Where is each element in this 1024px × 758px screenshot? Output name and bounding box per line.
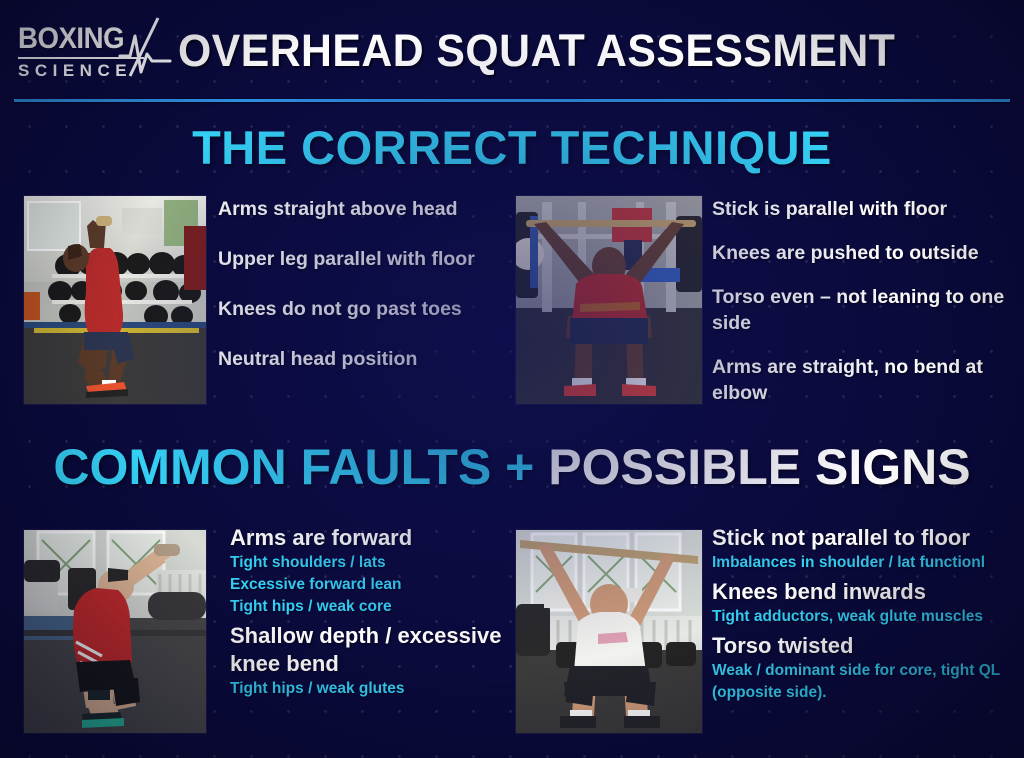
- fault-sign: Tight hips / weak glutes: [230, 678, 510, 700]
- fault-sign: Tight hips / weak core: [230, 596, 510, 618]
- cue-item: Neutral head position: [218, 346, 503, 372]
- heading-faults-part1: COMMON FAULTS +: [53, 439, 534, 495]
- correct-technique-right-cues: Stick is parallel with floor Knees are p…: [712, 196, 1024, 424]
- photo-correct-front-view: [516, 196, 702, 404]
- fault-block: Stick not parallel to floor Imbalances i…: [712, 524, 1024, 574]
- photo-correct-side-view: [24, 196, 206, 404]
- cue-item: Torso even – not leaning to one side: [712, 284, 1024, 336]
- cue-item: Upper leg parallel with floor: [218, 246, 503, 272]
- poster-header: BOXING SCIENCE OVERHEAD SQUAT ASSESSMENT: [0, 0, 1024, 100]
- fault-sign: Imbalances in shoulder / lat functionl: [712, 552, 1024, 574]
- correct-technique-left-cues: Arms straight above head Upper leg paral…: [218, 196, 503, 396]
- fault-sign: Tight adductors, weak glute muscles: [712, 606, 1024, 628]
- photo-fault-front-view: [516, 530, 702, 733]
- section-heading-common-faults: COMMON FAULTS + POSSIBLE SIGNS: [0, 436, 1024, 498]
- cue-item: Knees do not go past toes: [218, 296, 503, 322]
- cue-item: Knees are pushed to outside: [712, 240, 1024, 266]
- page-title: OVERHEAD SQUAT ASSESSMENT: [178, 19, 967, 83]
- cue-item: Arms straight above head: [218, 196, 503, 222]
- fault-title: Shallow depth / excessive knee bend: [230, 622, 510, 678]
- fault-block: Torso twisted Weak / dominant side for c…: [712, 632, 1024, 704]
- faults-right-column: Stick not parallel to floor Imbalances i…: [712, 524, 1024, 708]
- header-divider-rule: [14, 99, 1010, 102]
- fault-block: Arms are forward Tight shoulders / lats …: [230, 524, 510, 618]
- logo-brand-line2: SCIENCE: [18, 62, 132, 79]
- fault-sign: Weak / dominant side for core, tight QL …: [712, 660, 1024, 704]
- fault-title: Knees bend inwards: [712, 578, 1024, 606]
- infographic-poster: BOXING SCIENCE OVERHEAD SQUAT ASSESSMENT…: [0, 0, 1024, 758]
- fault-block: Shallow depth / excessive knee bend Tigh…: [230, 622, 510, 700]
- fault-sign: Tight shoulders / lats: [230, 552, 510, 574]
- faults-left-column: Arms are forward Tight shoulders / lats …: [230, 524, 510, 704]
- fault-sign: Excessive forward lean: [230, 574, 510, 596]
- section-heading-correct-technique: THE CORRECT TECHNIQUE: [0, 118, 1024, 178]
- heartbeat-pulse-icon: [118, 16, 172, 84]
- fault-title: Stick not parallel to floor: [712, 524, 1024, 552]
- cue-item: Stick is parallel with floor: [712, 196, 1024, 222]
- fault-title: Arms are forward: [230, 524, 510, 552]
- photo-fault-side-view: [24, 530, 206, 733]
- cue-item: Arms are straight, no bend at elbow: [712, 354, 1024, 406]
- fault-title: Torso twisted: [712, 632, 1024, 660]
- fault-block: Knees bend inwards Tight adductors, weak…: [712, 578, 1024, 628]
- heading-faults-part2: POSSIBLE SIGNS: [548, 439, 970, 495]
- logo-brand-line1: BOXING: [18, 24, 124, 54]
